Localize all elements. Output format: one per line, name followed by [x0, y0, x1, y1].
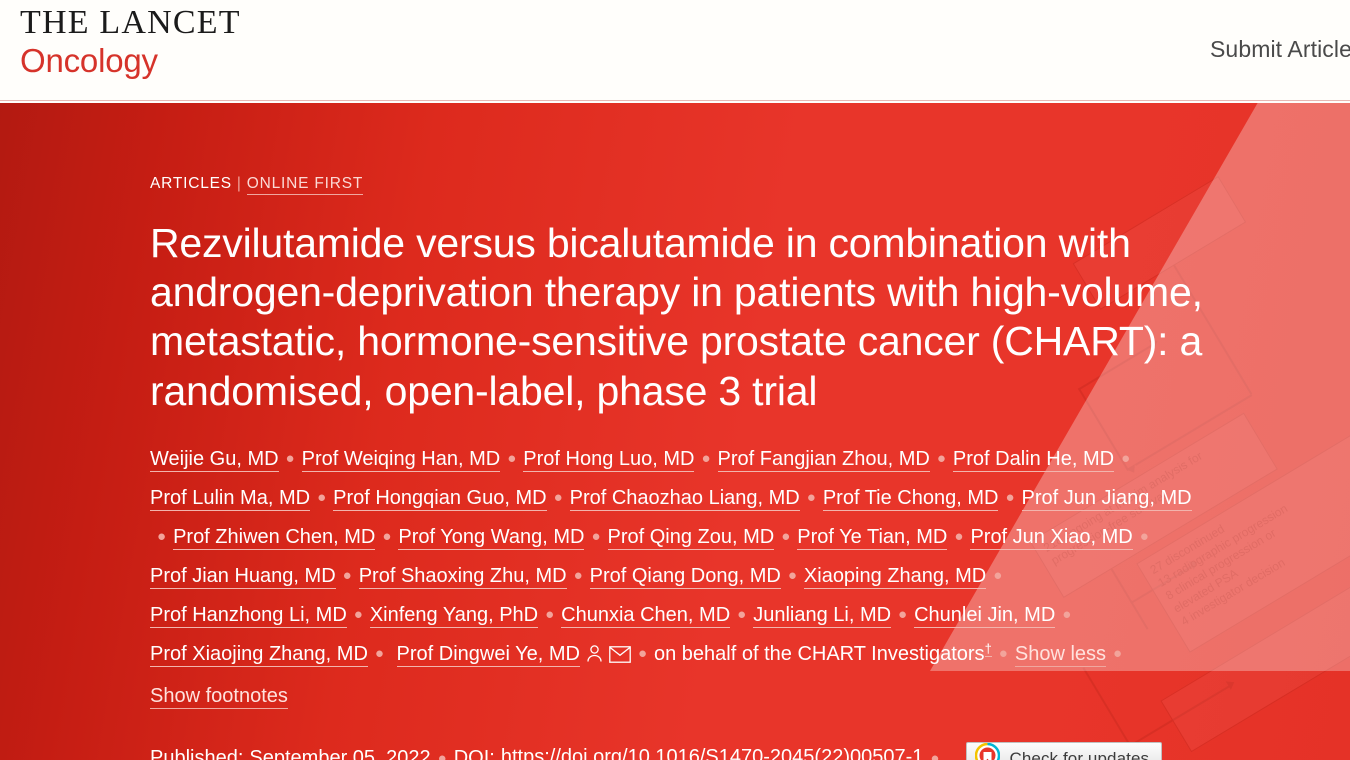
author-separator-dot: ● [574, 561, 583, 590]
author-link[interactable]: Prof Weiqing Han, MD [302, 448, 501, 472]
author-separator-dot: ● [999, 639, 1008, 668]
author-separator-dot: ● [788, 561, 797, 590]
kicker-separator: | [237, 175, 242, 192]
author-separator-dot: ● [591, 522, 600, 551]
author-separator-dot: ● [382, 522, 391, 551]
header-divider-thin [0, 100, 1350, 101]
author-separator-dot: ● [1140, 522, 1149, 551]
author-link[interactable]: Prof Jian Huang, MD [150, 565, 336, 589]
author-separator-dot: ● [286, 444, 295, 473]
author-separator-dot: ● [807, 483, 816, 512]
author-link[interactable]: Chunxia Chen, MD [561, 604, 730, 628]
email-icon[interactable] [609, 638, 631, 677]
author-link[interactable]: Prof Lulin Ma, MD [150, 487, 310, 511]
author-separator-dot: ● [343, 561, 352, 590]
author-link[interactable]: Prof Qiang Dong, MD [590, 565, 781, 589]
author-link[interactable]: Junliang Li, MD [753, 604, 891, 628]
author-link[interactable]: Prof Jun Xiao, MD [970, 526, 1132, 550]
crossmark-check-for-updates-button[interactable]: Check for updates [966, 742, 1162, 760]
author-separator-dot: ● [354, 600, 363, 629]
author-separator-dot: ● [638, 639, 647, 668]
group-authorship-text: on behalf of the CHART Investigators [654, 643, 985, 665]
author-profile-icon[interactable] [586, 638, 603, 677]
masthead-logo[interactable]: THE LANCET Oncology [20, 6, 241, 77]
author-link[interactable]: Xiaoping Zhang, MD [804, 565, 986, 589]
show-footnotes-link[interactable]: Show footnotes [150, 685, 288, 709]
crossmark-label: Check for updates [1009, 749, 1149, 760]
site-header: THE LANCET Oncology Submit Article [0, 0, 1350, 103]
author-link[interactable]: Prof Hongqian Guo, MD [333, 487, 546, 511]
author-link[interactable]: Prof Ye Tian, MD [797, 526, 947, 550]
author-separator-dot: ● [317, 483, 326, 512]
author-link[interactable]: Prof Tie Chong, MD [823, 487, 999, 511]
pub-separator-dot: ● [438, 750, 447, 760]
author-separator-dot: ● [898, 600, 907, 629]
author-link[interactable]: Prof Qing Zou, MD [608, 526, 775, 550]
author-list: Weijie Gu, MD●Prof Weiqing Han, MD●Prof … [150, 440, 1205, 716]
author-separator-dot: ● [1062, 600, 1071, 629]
author-separator-dot: ● [737, 600, 746, 629]
author-link[interactable]: Prof Fangjian Zhou, MD [718, 448, 930, 472]
author-separator-dot: ● [781, 522, 790, 551]
author-link[interactable]: Prof Yong Wang, MD [398, 526, 584, 550]
author-separator-dot: ● [375, 639, 384, 668]
author-separator-dot: ● [507, 444, 516, 473]
pub-separator-dot: ● [930, 750, 939, 760]
footnote-marker-dagger[interactable]: † [985, 641, 992, 657]
masthead-title-lancet: THE LANCET [20, 6, 241, 40]
author-separator-dot: ● [157, 522, 166, 551]
author-separator-dot: ● [1121, 444, 1130, 473]
author-separator-dot: ● [937, 444, 946, 473]
show-less-link[interactable]: Show less [1015, 643, 1106, 667]
author-separator-dot: ● [993, 561, 1002, 590]
author-link[interactable]: Prof Hong Luo, MD [523, 448, 694, 472]
published-label: Published: [150, 747, 243, 760]
article-header-content: ARTICLES|ONLINE FIRST Rezvilutamide vers… [150, 103, 1260, 760]
kicker-online-first-link[interactable]: ONLINE FIRST [247, 175, 363, 195]
author-separator-dot: ● [1005, 483, 1014, 512]
author-link-corresponding[interactable]: Prof Dingwei Ye, MD [397, 643, 580, 667]
doi-label: DOI: [454, 747, 495, 760]
author-link[interactable]: Prof Xiaojing Zhang, MD [150, 643, 368, 667]
author-link[interactable]: Xinfeng Yang, PhD [370, 604, 538, 628]
author-link[interactable]: Prof Shaoxing Zhu, MD [359, 565, 567, 589]
article-hero-banner: 218 ongoing at interim analysis forprogr… [0, 103, 1350, 760]
kicker-article-type: ARTICLES [150, 175, 232, 192]
author-link[interactable]: Chunlei Jin, MD [914, 604, 1055, 628]
author-separator-dot: ● [554, 483, 563, 512]
author-link[interactable]: Weijie Gu, MD [150, 448, 279, 472]
author-link[interactable]: Prof Jun Jiang, MD [1022, 487, 1192, 511]
submit-article-link[interactable]: Submit Article [1210, 36, 1350, 63]
publication-info-line: Published: September 05, 2022 ● DOI: htt… [150, 742, 1260, 760]
article-title: Rezvilutamide versus bicalutamide in com… [150, 219, 1245, 416]
doi-link[interactable]: https://doi.org/10.1016/S1470-2045(22)00… [501, 746, 924, 760]
author-link[interactable]: Prof Chaozhao Liang, MD [570, 487, 800, 511]
author-link[interactable]: Prof Hanzhong Li, MD [150, 604, 347, 628]
author-separator-dot: ● [1113, 639, 1122, 668]
author-separator-dot: ● [701, 444, 710, 473]
published-date: September 05, 2022 [249, 747, 430, 760]
crossmark-logo-icon [975, 743, 1000, 760]
author-link[interactable]: Prof Dalin He, MD [953, 448, 1114, 472]
author-separator-dot: ● [954, 522, 963, 551]
author-separator-dot: ● [545, 600, 554, 629]
masthead-title-oncology: Oncology [20, 44, 241, 77]
author-link[interactable]: Prof Zhiwen Chen, MD [173, 526, 375, 550]
article-kicker: ARTICLES|ONLINE FIRST [150, 175, 1260, 193]
